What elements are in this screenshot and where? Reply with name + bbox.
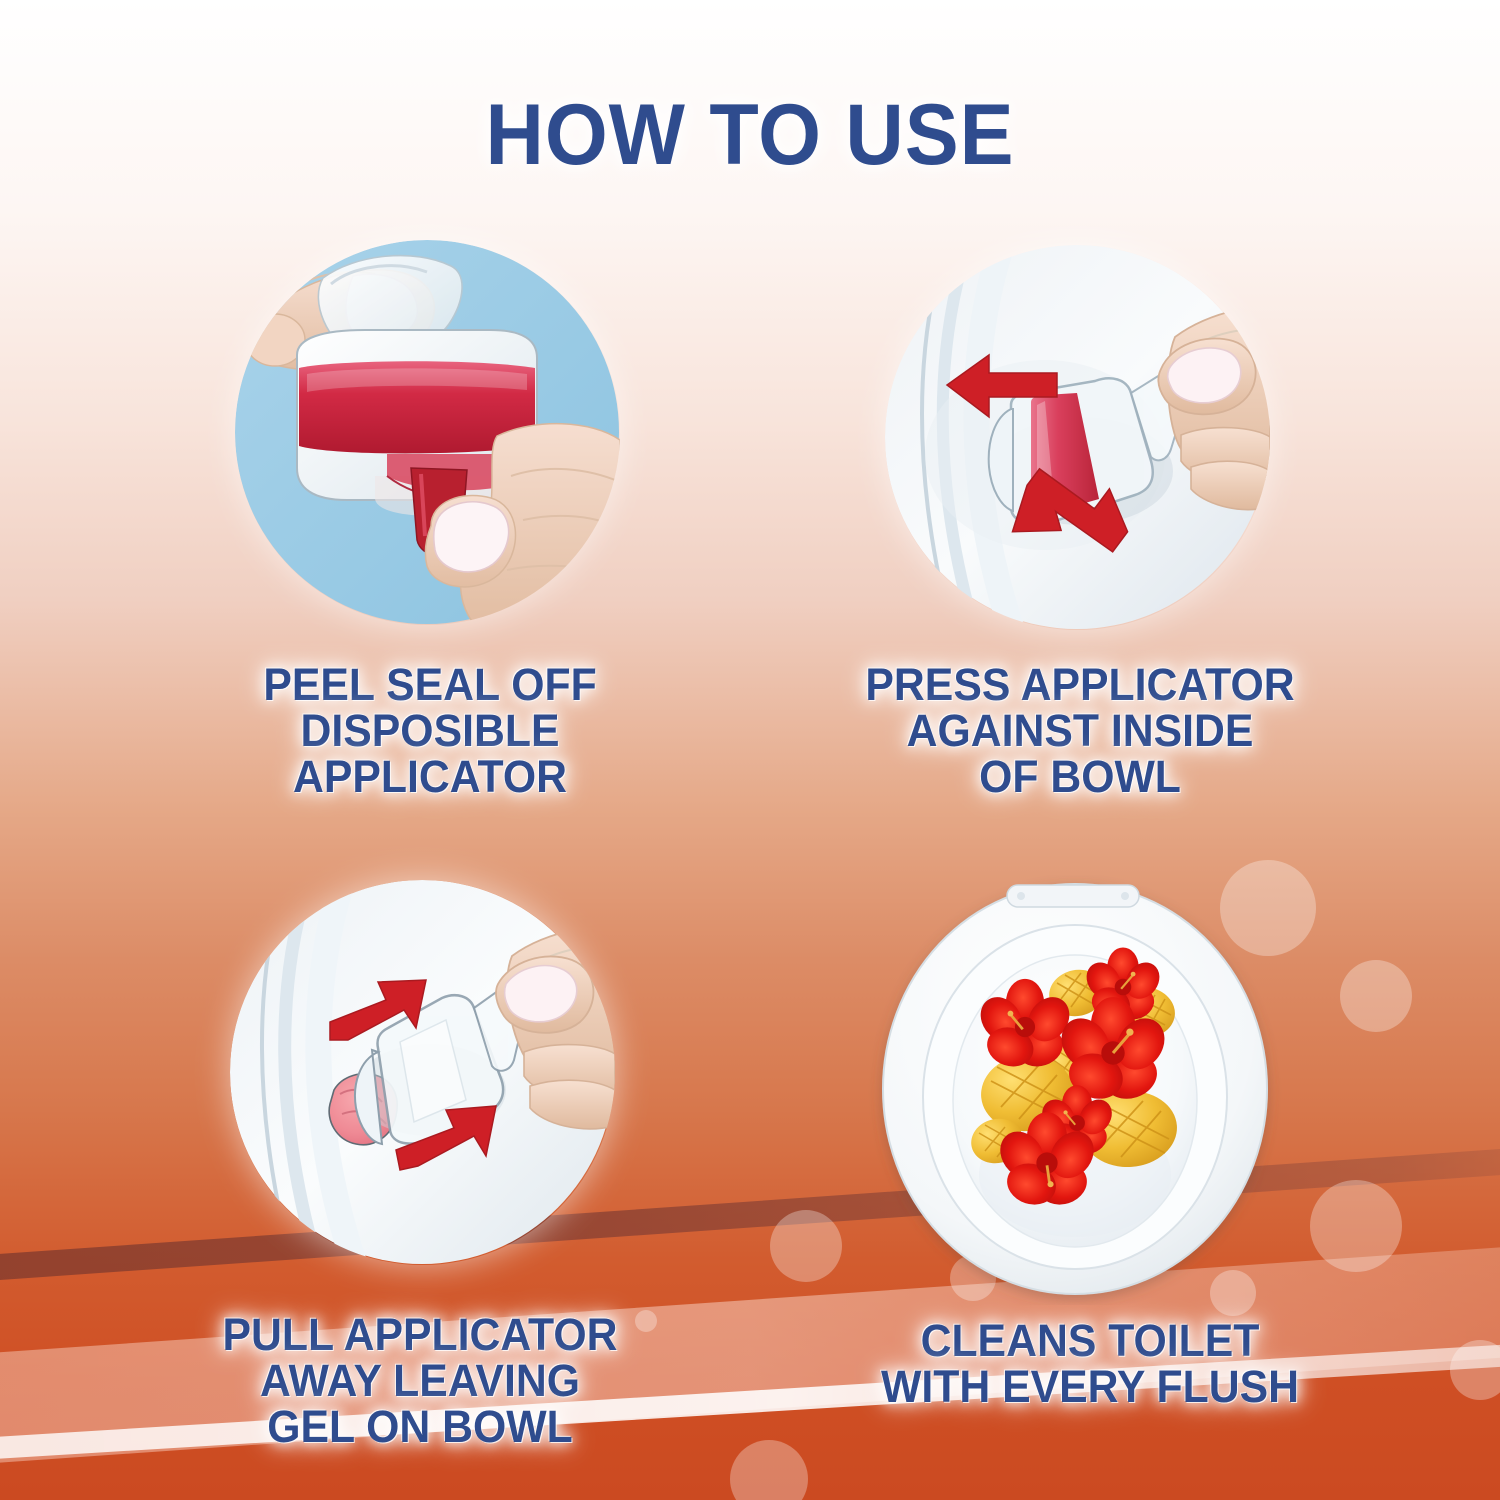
bubble-decor bbox=[730, 1440, 808, 1500]
bubble-decor bbox=[1340, 960, 1412, 1032]
press-applicator-illustration bbox=[885, 245, 1270, 630]
caption-line: DISPOSIBLE bbox=[164, 708, 696, 754]
peel-seal-illustration bbox=[235, 240, 620, 625]
step-1-caption: PEEL SEAL OFF DISPOSIBLE APPLICATOR bbox=[164, 662, 696, 800]
caption-line: CLEANS TOILET bbox=[824, 1318, 1356, 1364]
caption-line: PULL APPLICATOR bbox=[135, 1312, 705, 1358]
caption-line: AWAY LEAVING bbox=[135, 1358, 705, 1404]
caption-line: PEEL SEAL OFF bbox=[164, 662, 696, 708]
caption-line: PRESS APPLICATOR bbox=[805, 662, 1356, 708]
caption-line: WITH EVERY FLUSH bbox=[824, 1364, 1356, 1410]
toilet-bowl-flush-illustration bbox=[855, 875, 1295, 1305]
pull-applicator-svg bbox=[230, 880, 615, 1265]
step-3-caption: PULL APPLICATOR AWAY LEAVING GEL ON BOWL bbox=[135, 1312, 705, 1450]
step-4-caption: CLEANS TOILET WITH EVERY FLUSH bbox=[824, 1318, 1356, 1410]
how-to-use-infographic: HOW TO USE bbox=[0, 0, 1500, 1500]
caption-line: GEL ON BOWL bbox=[135, 1404, 705, 1450]
peel-seal-svg bbox=[235, 240, 620, 625]
step-2-caption: PRESS APPLICATOR AGAINST INSIDE OF BOWL bbox=[805, 662, 1356, 800]
bubble-decor bbox=[1310, 1180, 1402, 1272]
caption-line: OF BOWL bbox=[805, 754, 1356, 800]
pull-applicator-illustration bbox=[230, 880, 615, 1265]
page-title: HOW TO USE bbox=[45, 86, 1455, 185]
bubble-decor bbox=[770, 1210, 842, 1282]
caption-line: APPLICATOR bbox=[164, 754, 696, 800]
toilet-bowl-svg bbox=[855, 875, 1295, 1305]
bubble-decor bbox=[1450, 1340, 1500, 1400]
caption-line: AGAINST INSIDE bbox=[805, 708, 1356, 754]
press-applicator-svg bbox=[885, 245, 1270, 630]
